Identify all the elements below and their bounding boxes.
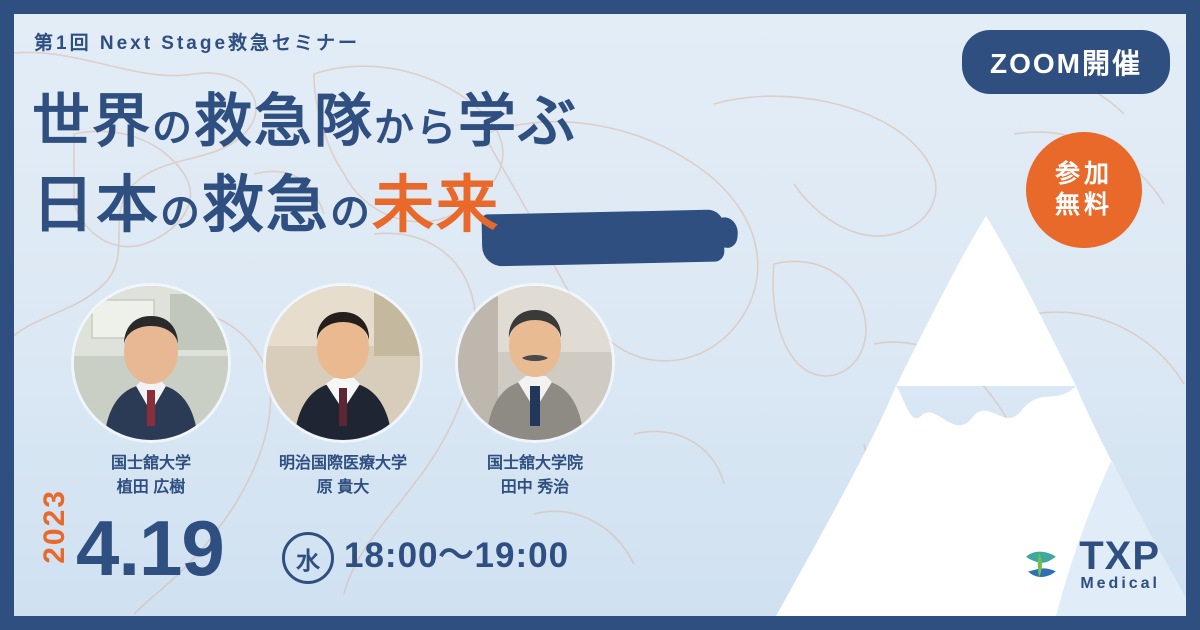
zoom-badge: ZOOM開催 <box>962 30 1170 94</box>
avatar <box>74 286 228 440</box>
event-kicker: 第1回 Next Stage救急セミナー <box>34 28 360 55</box>
speaker-affiliation: 明治国際医療大学 <box>266 452 420 476</box>
headline2-particle2: の <box>330 191 372 235</box>
speaker-name: 原 貴大 <box>266 476 420 500</box>
headline1-particle2: から <box>374 106 458 150</box>
headline1-particle1: の <box>152 106 194 150</box>
speaker-name: 植田 広樹 <box>74 476 228 500</box>
txp-logo-icon <box>1013 536 1069 592</box>
speaker-name: 田中 秀治 <box>458 476 612 500</box>
headline-line-1: 世界の救急隊から学ぶ <box>32 74 578 158</box>
headline1-word1: 世界 <box>32 89 152 154</box>
headline2-particle1: の <box>160 191 202 235</box>
headline2-word1: 日本 <box>32 171 160 240</box>
speaker-info: 国士舘大学院 田中 秀治 <box>458 452 612 500</box>
speaker-card: 国士舘大学 植田 広樹 <box>74 286 228 500</box>
event-day-of-week: 水 <box>282 532 334 584</box>
free-badge-line2: 無料 <box>1055 190 1113 221</box>
poster-inner: 第1回 Next Stage救急セミナー 世界の救急隊から学ぶ 日本の救急の未来… <box>14 14 1186 616</box>
seminar-poster: 第1回 Next Stage救急セミナー 世界の救急隊から学ぶ 日本の救急の未来… <box>0 0 1200 630</box>
headline1-word3: 学ぶ <box>458 89 578 154</box>
avatar <box>458 286 612 440</box>
speaker-info: 国士舘大学 植田 広樹 <box>74 452 228 500</box>
headline2-highlight: 未来 <box>372 171 500 240</box>
speaker-list: 国士舘大学 植田 広樹 <box>74 286 612 500</box>
brand-wordmark: TXP Medical <box>1079 536 1160 592</box>
brush-underline <box>481 209 724 266</box>
brand-logo: TXP Medical <box>1013 536 1160 592</box>
avatar <box>266 286 420 440</box>
free-participation-badge: 参加 無料 <box>1026 132 1142 248</box>
speaker-card: 明治国際医療大学 原 貴大 <box>266 286 420 500</box>
brand-name: TXP <box>1079 536 1160 576</box>
speaker-affiliation: 国士舘大学 <box>74 452 228 476</box>
headline1-word2: 救急隊 <box>194 89 374 154</box>
event-time: 18:00〜19:00 <box>344 527 569 578</box>
headline2-word2: 救急 <box>202 171 330 240</box>
speaker-card: 国士舘大学院 田中 秀治 <box>458 286 612 500</box>
headline-line-2: 日本の救急の未来 <box>32 154 500 244</box>
free-badge-line1: 参加 <box>1055 159 1113 190</box>
speaker-affiliation: 国士舘大学院 <box>458 452 612 476</box>
event-date: 4.19 <box>76 503 224 594</box>
speaker-info: 明治国際医療大学 原 貴大 <box>266 452 420 500</box>
brand-subname: Medical <box>1079 576 1160 592</box>
event-year: 2023 <box>38 489 72 564</box>
